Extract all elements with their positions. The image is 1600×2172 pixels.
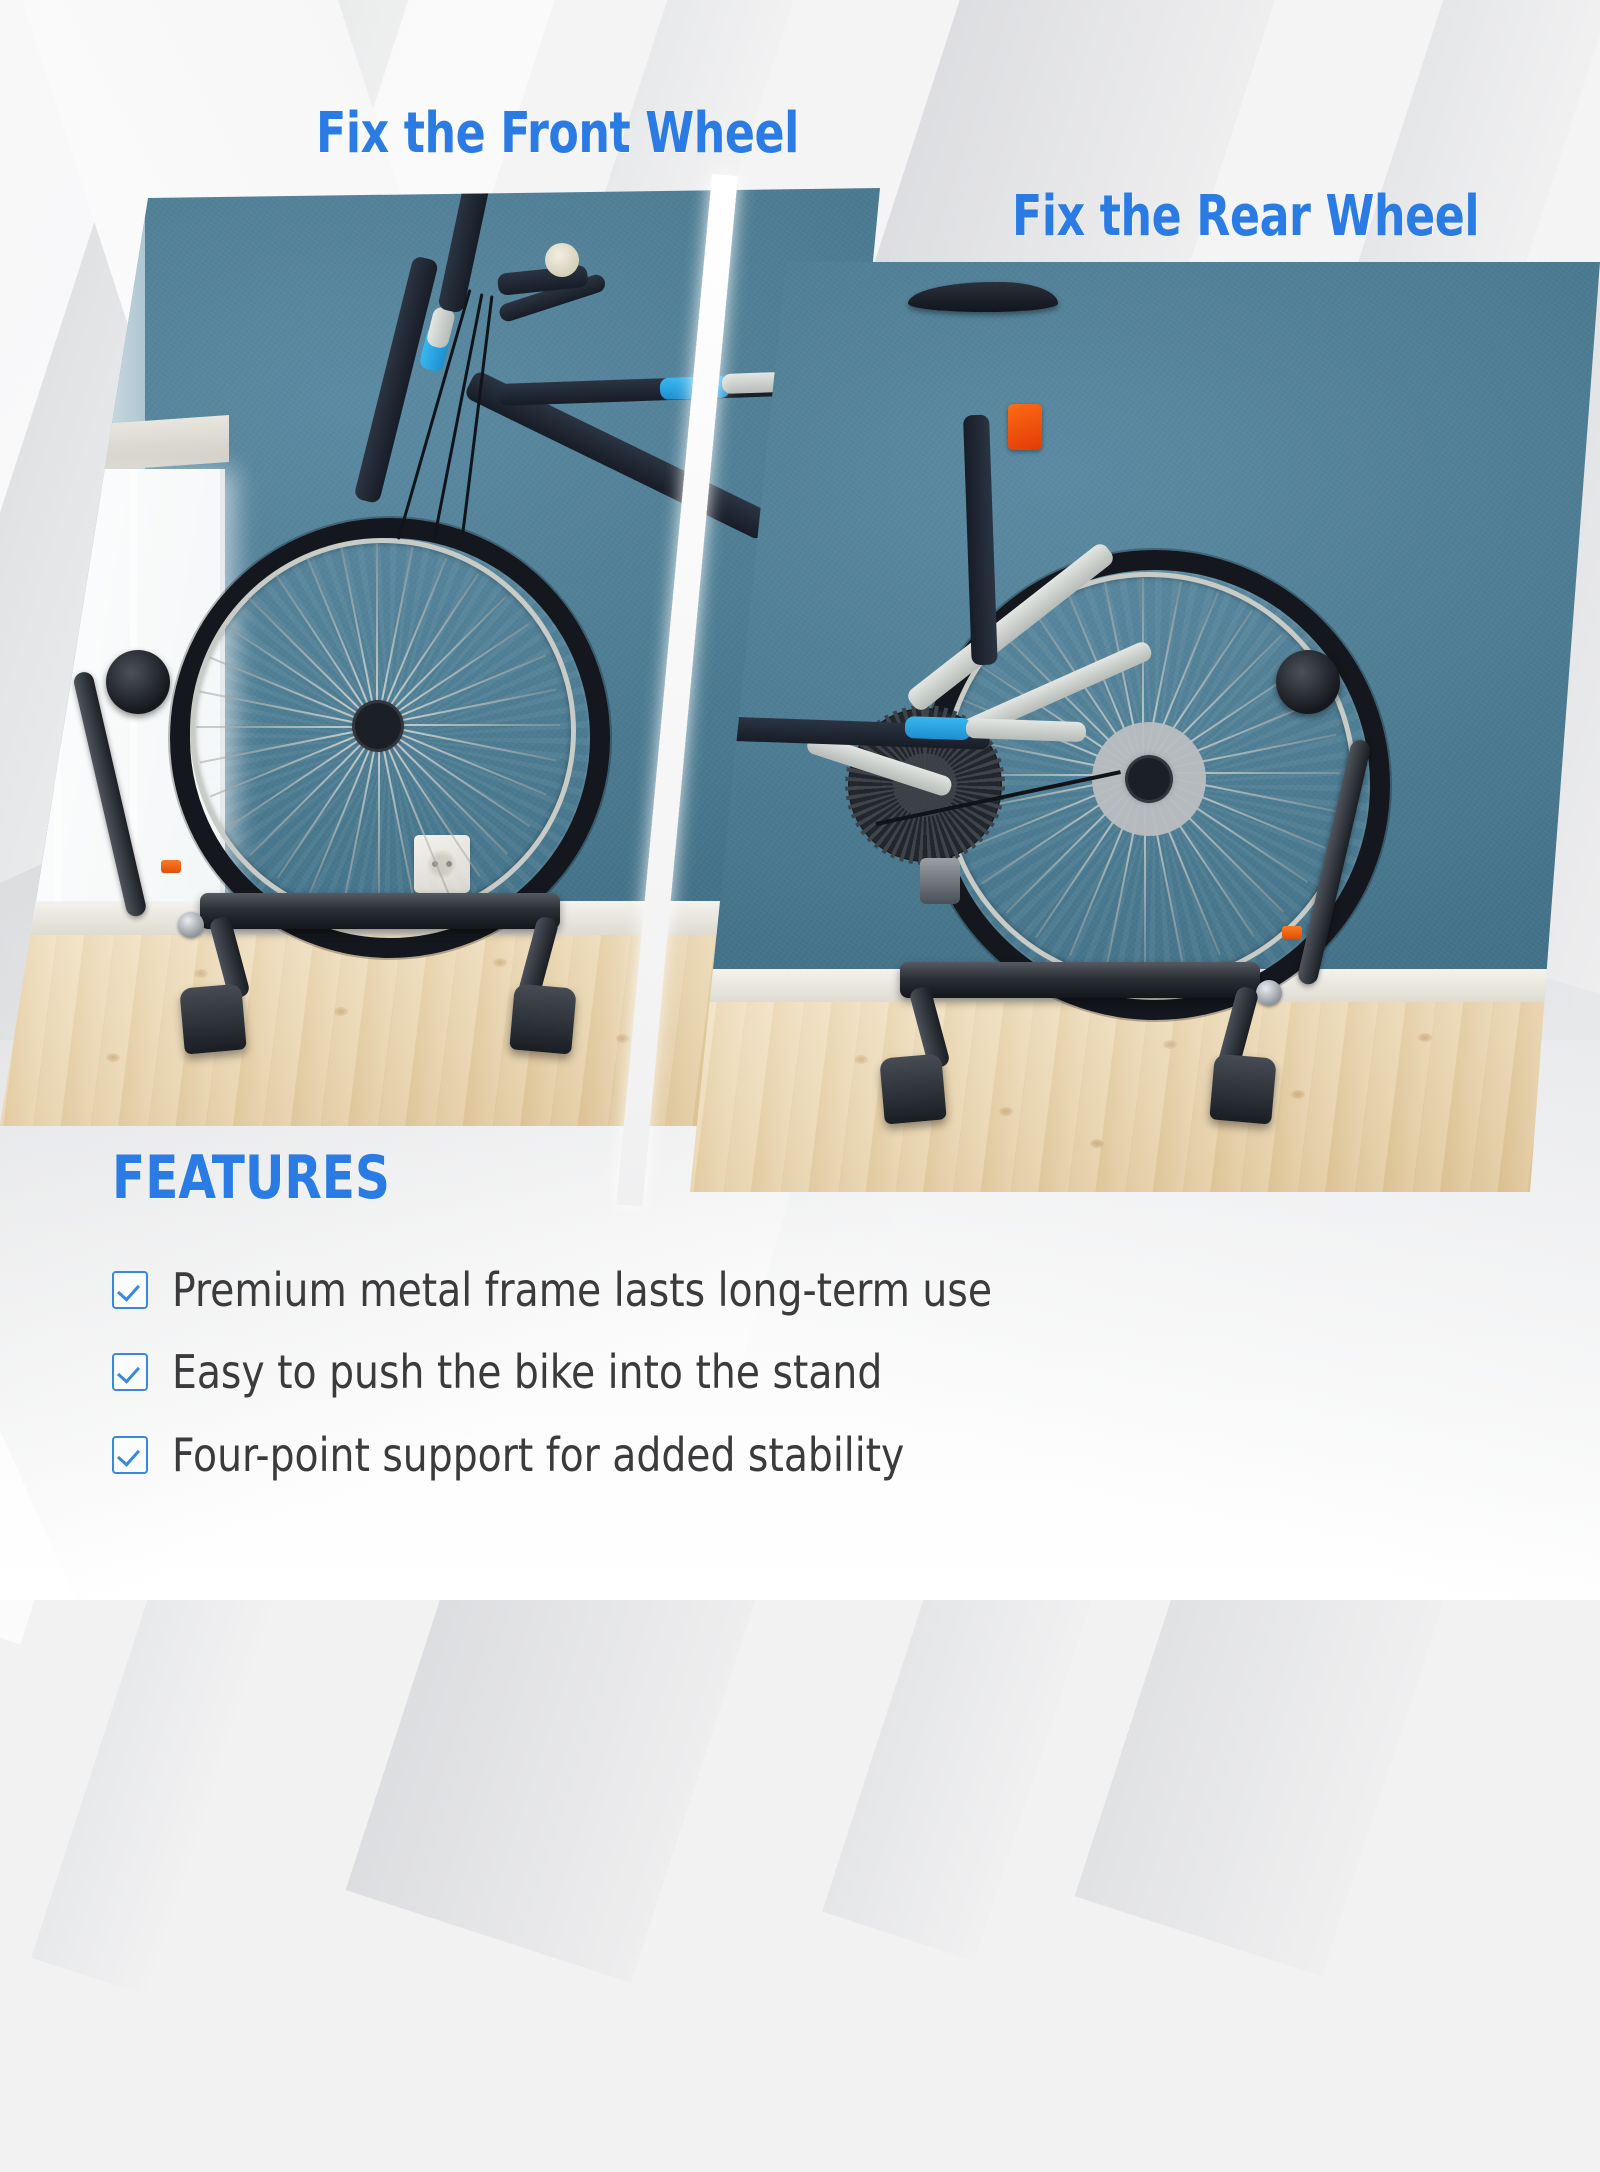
stand-adjust-knob xyxy=(178,912,204,938)
feature-label: Four-point support for added stability xyxy=(172,1431,904,1479)
rear-derailleur xyxy=(920,858,960,904)
stand-orange-accent xyxy=(1282,926,1302,939)
rear-wheel-title: Fix the Rear Wheel xyxy=(1012,184,1479,249)
bike-chain-stay-silver xyxy=(966,718,1087,742)
feature-item: Easy to push the bike into the stand xyxy=(112,1348,1212,1396)
stand-foot xyxy=(179,983,247,1054)
checkbox-checked-icon xyxy=(112,1436,148,1474)
stand-orange-accent xyxy=(161,860,181,873)
rear-light xyxy=(1008,404,1042,450)
bike-grip xyxy=(545,243,579,277)
features-section: FEATURES Premium metal frame lasts long-… xyxy=(112,1148,1212,1513)
feature-item: Premium metal frame lasts long-term use xyxy=(112,1266,1212,1314)
checkbox-checked-icon xyxy=(112,1353,148,1391)
stand-foot xyxy=(509,983,577,1054)
room-scene-right xyxy=(690,262,1600,1192)
checkbox-checked-icon xyxy=(112,1271,148,1309)
stand-center-beam xyxy=(900,962,1260,998)
stand-foot xyxy=(879,1053,947,1124)
stand-wheel-stop-disc xyxy=(106,650,170,714)
feature-item: Four-point support for added stability xyxy=(112,1431,1212,1479)
wheel-hub xyxy=(1128,758,1170,800)
feature-label: Easy to push the bike into the stand xyxy=(172,1348,882,1396)
features-list: Premium metal frame lasts long-term use … xyxy=(112,1266,1212,1479)
stand-foot xyxy=(1209,1053,1277,1124)
stand-wheel-stop-disc xyxy=(1276,650,1340,714)
feature-label: Premium metal frame lasts long-term use xyxy=(172,1266,992,1314)
front-wheel-title: Fix the Front Wheel xyxy=(316,101,799,166)
stand-center-beam xyxy=(200,893,560,929)
features-heading: FEATURES xyxy=(112,1148,1102,1208)
bike-chain-stay-accent xyxy=(905,716,972,740)
photo-rear-wheel xyxy=(690,262,1600,1192)
wheel-hub xyxy=(355,703,401,749)
stand-adjust-knob xyxy=(1256,980,1282,1006)
